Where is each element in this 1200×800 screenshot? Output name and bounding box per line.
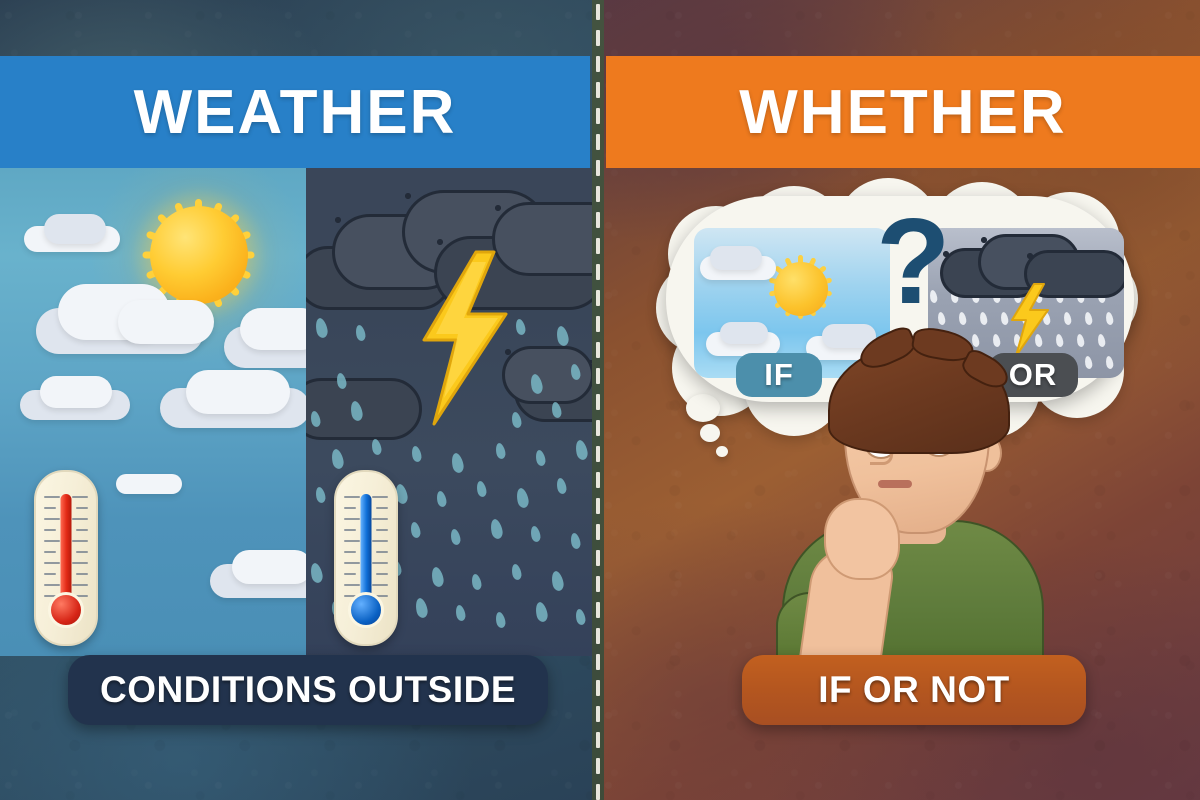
divider-dash <box>596 602 600 618</box>
thermometer-tick <box>344 540 360 542</box>
divider-dash <box>596 472 600 488</box>
raindrop-icon <box>410 445 422 463</box>
cloud-icon <box>44 214 106 244</box>
thermometer-tick <box>44 518 60 520</box>
thermometer-tick <box>44 562 60 564</box>
raindrop-icon <box>534 601 549 623</box>
lightning-bolt-icon <box>402 248 522 428</box>
left-banner: WEATHER <box>0 56 590 168</box>
divider-dash <box>596 784 600 800</box>
dashed-divider <box>592 0 604 800</box>
cloud-icon <box>118 300 214 344</box>
thermometer-tick <box>376 507 388 509</box>
thermometer-tick <box>344 496 360 498</box>
thought-bubble-tail <box>716 446 728 457</box>
thermometer-tick <box>76 573 88 575</box>
cloud-icon <box>40 376 112 408</box>
raindrop-icon <box>494 442 506 460</box>
divider-dash <box>596 316 600 332</box>
boy-hand <box>824 498 900 580</box>
raindrop-icon <box>555 325 570 347</box>
thermometer-tick <box>76 551 88 553</box>
infographic-canvas: ? IF OR WEATHER WHETHER <box>0 0 1200 800</box>
thermometer-tick <box>44 496 60 498</box>
thermometer-tick <box>72 518 88 520</box>
raindrop-icon <box>1076 333 1085 347</box>
divider-dash <box>596 342 600 358</box>
raindrop-icon <box>529 525 541 543</box>
raindrop-icon <box>1084 355 1093 369</box>
thermometer-tick <box>372 518 388 520</box>
cloud-icon <box>116 474 182 494</box>
thermometer-tick <box>44 507 56 509</box>
raindrop-icon <box>430 566 445 588</box>
cloud-icon <box>710 246 762 270</box>
raindrop-icon <box>569 532 581 550</box>
thermometer-tick <box>72 584 88 586</box>
thermometer-tick <box>72 496 88 498</box>
thermometer-tick <box>76 507 88 509</box>
raindrop-icon <box>1055 333 1064 347</box>
raindrop-icon <box>1084 311 1093 325</box>
raindrop-icon <box>979 311 988 325</box>
thermometer-tick <box>344 573 356 575</box>
divider-dash <box>596 732 600 748</box>
divider-dash <box>596 368 600 384</box>
raindrop-icon <box>515 487 530 509</box>
raindrop-icon <box>435 490 447 508</box>
raindrop-icon <box>510 563 522 581</box>
raindrop-icon <box>314 317 329 339</box>
thermometer-tick <box>376 573 388 575</box>
thermometer-bulb <box>348 592 384 628</box>
sun-icon <box>774 262 828 316</box>
thermometer-tick <box>344 562 360 564</box>
thought-bubble-tail <box>700 424 720 442</box>
thermometer-tick <box>44 584 60 586</box>
thermometer-tick <box>344 584 360 586</box>
left-caption-text: CONDITIONS OUTSIDE <box>100 669 516 711</box>
thermometer-tick <box>372 496 388 498</box>
divider-dash <box>596 706 600 722</box>
raindrop-icon <box>414 597 429 619</box>
divider-dash <box>596 628 600 644</box>
cloud-icon <box>186 370 290 414</box>
divider-dash <box>596 264 600 280</box>
divider-dash <box>596 212 600 228</box>
left-caption-pill: CONDITIONS OUTSIDE <box>68 655 548 725</box>
thermometer-tick <box>344 529 356 531</box>
sun-icon <box>150 206 248 304</box>
raindrop-icon <box>574 608 586 626</box>
raindrop-icon <box>409 521 421 539</box>
raindrop-icon <box>534 449 546 467</box>
divider-dash <box>596 134 600 150</box>
hot-thermometer <box>34 470 98 646</box>
thermometer-tick <box>76 529 88 531</box>
raindrop-icon <box>574 439 589 461</box>
divider-dash <box>596 82 600 98</box>
thermometer-tick <box>344 551 356 553</box>
raindrop-icon <box>370 438 382 456</box>
divider-dash <box>596 524 600 540</box>
right-banner-title: WHETHER <box>739 77 1066 148</box>
cloud-icon <box>240 308 306 350</box>
thermometer-tick <box>372 584 388 586</box>
left-banner-title: WEATHER <box>134 77 457 148</box>
thermometer-tick <box>44 529 56 531</box>
raindrop-icon <box>475 480 487 498</box>
right-caption-pill: IF OR NOT <box>742 655 1086 725</box>
cloud-icon <box>720 322 768 344</box>
divider-dash <box>596 446 600 462</box>
raindrop-icon <box>1105 355 1114 369</box>
right-banner: WHETHER <box>606 56 1200 168</box>
thermometer-tick <box>44 573 56 575</box>
boy-mouth <box>878 480 912 488</box>
divider-dash <box>596 758 600 774</box>
thermometer-tick <box>344 507 356 509</box>
raindrop-icon <box>550 570 565 592</box>
raindrop-icon <box>1063 311 1072 325</box>
thermometer-tick <box>72 540 88 542</box>
right-caption-text: IF OR NOT <box>818 669 1010 711</box>
cloud-icon <box>232 550 306 584</box>
thought-bubble-tail <box>686 394 720 422</box>
divider-dash <box>596 238 600 254</box>
divider-dash <box>596 186 600 202</box>
raindrop-icon <box>314 486 326 504</box>
divider-dash <box>596 290 600 306</box>
divider-dash <box>596 160 600 176</box>
divider-dash <box>596 30 600 46</box>
raindrop-icon <box>1105 311 1114 325</box>
thermometer-tick <box>376 551 388 553</box>
raindrop-icon <box>449 528 461 546</box>
thermometer-tick <box>344 518 360 520</box>
thermometer-tick <box>372 562 388 564</box>
cold-thermometer <box>334 470 398 646</box>
raindrop-icon <box>309 562 324 584</box>
divider-dash <box>596 56 600 72</box>
thermometer-tick <box>376 529 388 531</box>
divider-dash <box>596 420 600 436</box>
divider-dash <box>596 498 600 514</box>
raindrop-icon <box>470 573 482 591</box>
raindrop-icon <box>1097 333 1106 347</box>
question-mark-icon: ? <box>876 200 948 322</box>
divider-dash <box>596 680 600 696</box>
raindrop-icon <box>450 452 465 474</box>
raindrop-icon <box>555 477 567 495</box>
raindrop-icon <box>494 611 506 629</box>
thermometer-tick <box>44 551 56 553</box>
divider-dash <box>596 108 600 124</box>
raindrop-icon <box>454 604 466 622</box>
divider-dash <box>596 550 600 566</box>
divider-dash <box>596 394 600 410</box>
thinking-boy <box>766 330 1056 660</box>
raindrop-icon <box>958 311 967 325</box>
raindrop-icon <box>354 324 366 342</box>
thermometer-tick <box>44 540 60 542</box>
raindrop-icon <box>330 448 345 470</box>
thermometer-tick <box>372 540 388 542</box>
divider-dash <box>596 654 600 670</box>
raindrop-icon <box>489 518 504 540</box>
thermometer-bulb <box>48 592 84 628</box>
thermometer-tick <box>72 562 88 564</box>
divider-dash <box>596 4 600 20</box>
divider-dash <box>596 576 600 592</box>
